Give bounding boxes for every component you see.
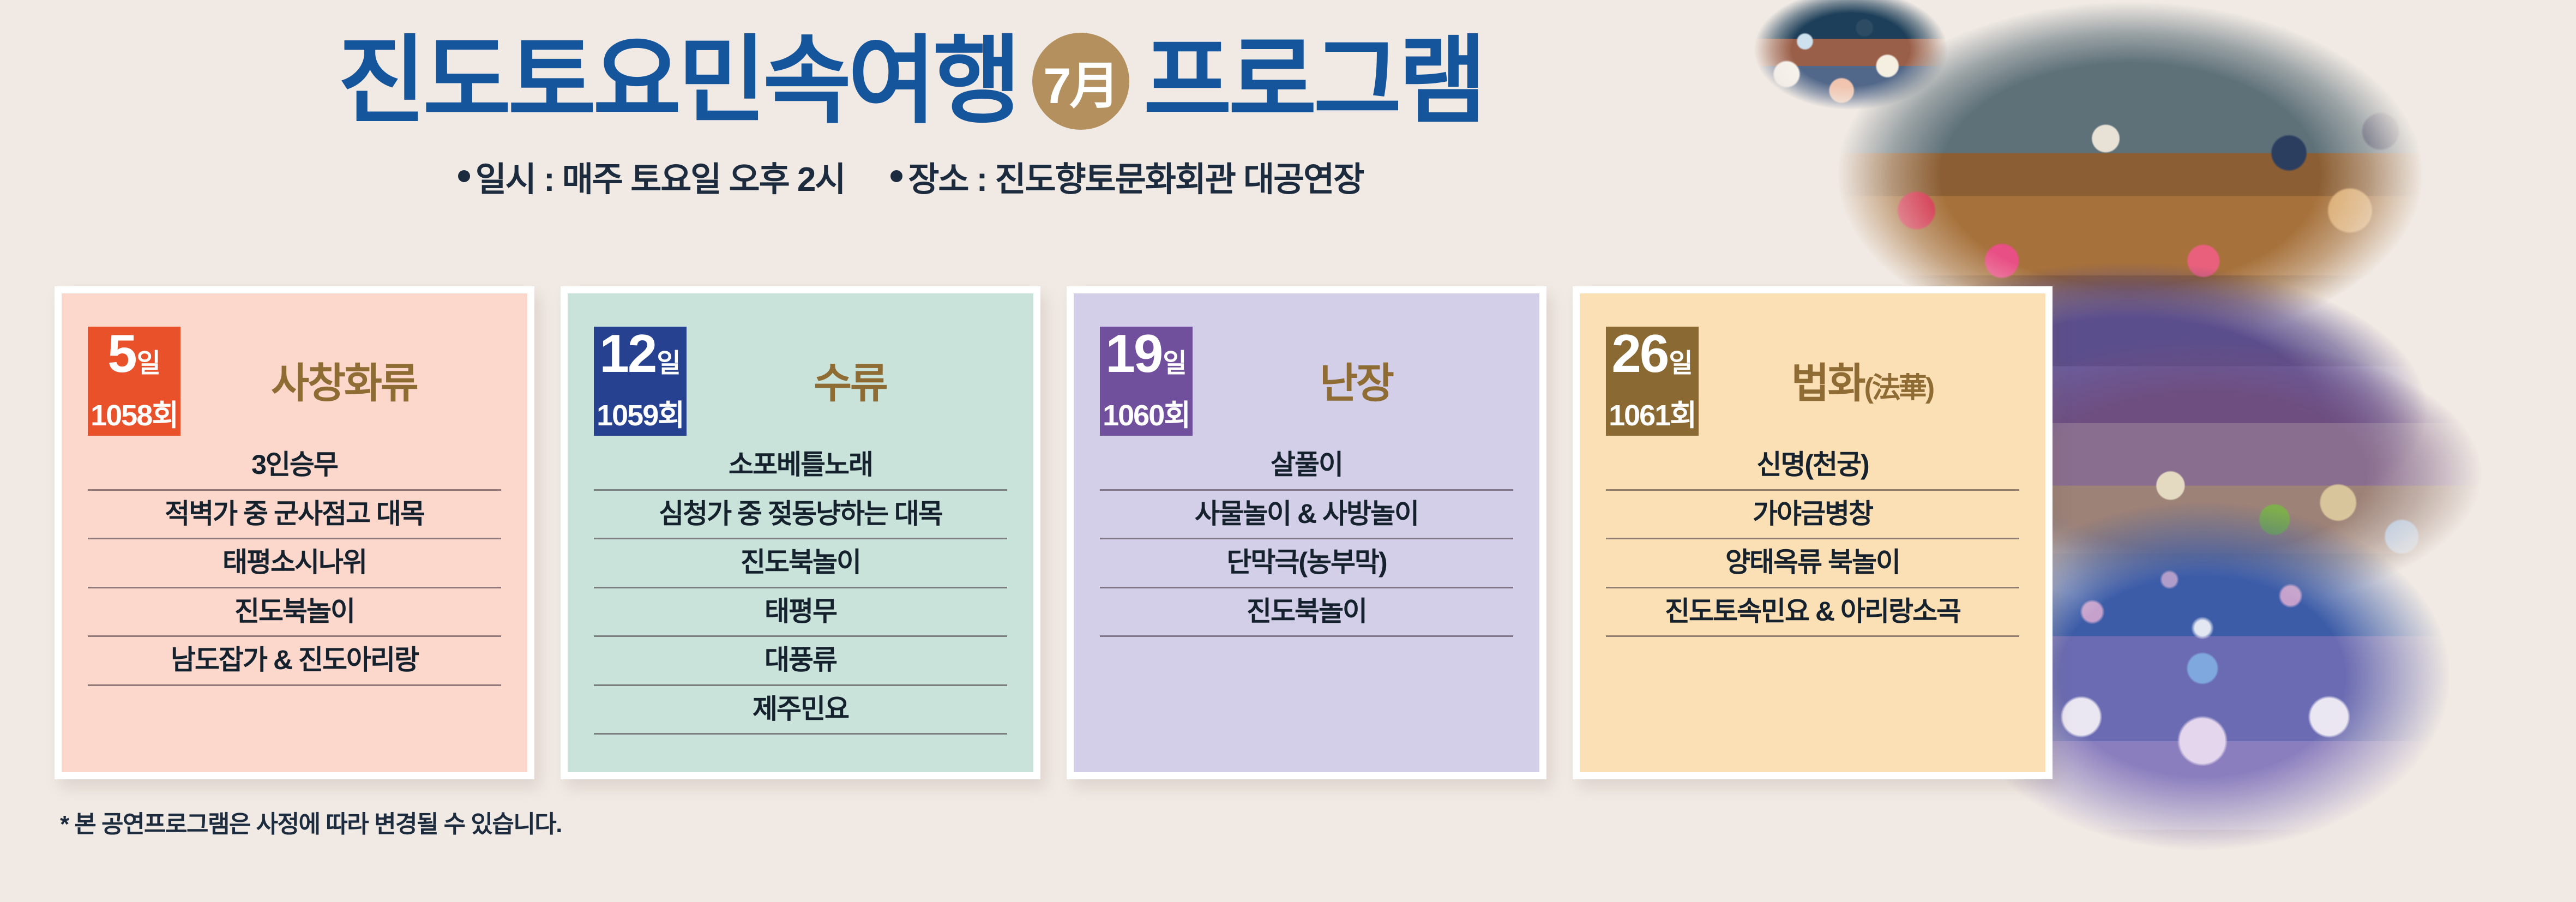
program-item: 단막극(농부막) [1100, 539, 1513, 588]
program-item: 사물놀이 & 사방놀이 [1100, 491, 1513, 540]
program-card-body: 26일1061회법화(法華)신명(천궁)가야금병창양태옥류 북놀이진도토속민요 … [1580, 293, 2045, 772]
title-row: 진도토요민속여행 7月 프로그램 [0, 33, 1821, 130]
program-item: 적벽가 중 군사점고 대목 [88, 491, 501, 540]
program-card-header: 5일1058회사창화류 [88, 324, 501, 438]
program-item: 제주민요 [594, 686, 1007, 735]
program-item: 신명(천궁) [1606, 442, 2019, 491]
date-badge-day-unit: 일 [1163, 351, 1187, 376]
month-badge: 7月 [1032, 33, 1129, 130]
program-item: 진도북놀이 [88, 588, 501, 638]
program-card-title-text: 사창화류 [271, 360, 417, 407]
program-card-title: 수류 [693, 350, 1007, 413]
program-card-title-hanja: (法華) [1864, 372, 1934, 404]
program-card-title: 사창화류 [187, 350, 501, 413]
date-badge-round: 1058회 [91, 391, 178, 434]
program-card-body: 12일1059회수류소포베틀노래심청가 중 젖동냥하는 대목진도북놀이태평무대풍… [568, 293, 1033, 772]
info-venue: 장소 : 진도향토문화회관 대공연장 [890, 152, 1363, 201]
info-venue-label: 장소 : 진도향토문화회관 대공연장 [908, 152, 1363, 201]
date-badge-day-unit: 일 [1669, 351, 1693, 376]
date-badge-round: 1060회 [1103, 391, 1190, 434]
date-badge: 12일1059회 [594, 327, 687, 436]
date-badge: 5일1058회 [88, 327, 180, 436]
date-badge: 19일1060회 [1100, 327, 1193, 436]
bullet-icon [890, 170, 902, 182]
program-item: 가야금병창 [1606, 491, 2019, 540]
subtitle-row: 일시 : 매주 토요일 오후 2시 장소 : 진도향토문화회관 대공연장 [0, 152, 1821, 201]
program-card-title-text: 수류 [814, 360, 887, 407]
program-item: 소포베틀노래 [594, 442, 1007, 491]
program-card-title: 난장 [1199, 350, 1513, 413]
date-badge-day-unit: 일 [137, 351, 161, 376]
program-item: 심청가 중 젖동냥하는 대목 [594, 491, 1007, 540]
program-item: 진도북놀이 [1100, 588, 1513, 638]
page-title-part2: 프로그램 [1143, 33, 1484, 129]
info-datetime: 일시 : 매주 토요일 오후 2시 [458, 152, 845, 201]
poster-header: 진도토요민속여행 7月 프로그램 일시 : 매주 토요일 오후 2시 장소 : … [0, 33, 1821, 201]
date-badge-day: 5일 [107, 328, 161, 379]
program-card[interactable]: 5일1058회사창화류3인승무적벽가 중 군사점고 대목태평소시나위진도북놀이남… [55, 286, 534, 779]
program-card[interactable]: 19일1060회난장살풀이사물놀이 & 사방놀이단막극(농부막)진도북놀이 [1067, 286, 1546, 779]
program-card-header: 26일1061회법화(法華) [1606, 324, 2019, 438]
program-items: 소포베틀노래심청가 중 젖동냥하는 대목진도북놀이태평무대풍류제주민요 [594, 442, 1007, 735]
date-badge-round: 1061회 [1609, 391, 1696, 434]
date-badge-day: 26일 [1611, 328, 1693, 379]
program-items: 신명(천궁)가야금병창양태옥류 북놀이진도토속민요 & 아리랑소곡 [1606, 442, 2019, 637]
program-card[interactable]: 26일1061회법화(法華)신명(천궁)가야금병창양태옥류 북놀이진도토속민요 … [1573, 286, 2053, 779]
program-item: 진도토속민요 & 아리랑소곡 [1606, 588, 2019, 638]
program-item: 살풀이 [1100, 442, 1513, 491]
program-items: 3인승무적벽가 중 군사점고 대목태평소시나위진도북놀이남도잡가 & 진도아리랑 [88, 442, 501, 686]
program-card-title: 법화(法華) [1705, 350, 2019, 413]
program-card-header: 19일1060회난장 [1100, 324, 1513, 438]
info-datetime-label: 일시 : 매주 토요일 오후 2시 [476, 152, 845, 201]
program-card-title-text: 법화 [1791, 360, 1864, 407]
program-card-header: 12일1059회수류 [594, 324, 1007, 438]
date-badge-day-unit: 일 [657, 351, 681, 376]
date-badge-round: 1059회 [597, 391, 684, 434]
program-card-body: 5일1058회사창화류3인승무적벽가 중 군사점고 대목태평소시나위진도북놀이남… [62, 293, 527, 772]
date-badge-day-number: 19 [1105, 328, 1161, 379]
date-badge-day-number: 12 [599, 328, 655, 379]
program-item: 태평소시나위 [88, 539, 501, 588]
poster-root: 진도토요민속여행 7月 프로그램 일시 : 매주 토요일 오후 2시 장소 : … [0, 0, 2576, 902]
program-item: 진도북놀이 [594, 539, 1007, 588]
program-card[interactable]: 12일1059회수류소포베틀노래심청가 중 젖동냥하는 대목진도북놀이태평무대풍… [561, 286, 1040, 779]
page-title-part1: 진도토요민속여행 [338, 33, 1018, 129]
program-card-body: 19일1060회난장살풀이사물놀이 & 사방놀이단막극(농부막)진도북놀이 [1074, 293, 1539, 772]
program-item: 3인승무 [88, 442, 501, 491]
program-item: 태평무 [594, 588, 1007, 638]
program-item: 양태옥류 북놀이 [1606, 539, 2019, 588]
program-card-list: 5일1058회사창화류3인승무적벽가 중 군사점고 대목태평소시나위진도북놀이남… [55, 286, 2072, 779]
date-badge-day-number: 5 [107, 328, 136, 379]
bullet-icon [458, 170, 470, 182]
program-items: 살풀이사물놀이 & 사방놀이단막극(농부막)진도북놀이 [1100, 442, 1513, 637]
program-item: 대풍류 [594, 637, 1007, 686]
footnote: * 본 공연프로그램은 사정에 따라 변경될 수 있습니다. [60, 804, 562, 839]
program-item: 남도잡가 & 진도아리랑 [88, 637, 501, 686]
date-badge-day: 19일 [1105, 328, 1187, 379]
program-card-title-text: 난장 [1320, 360, 1393, 407]
date-badge-day: 12일 [599, 328, 681, 379]
date-badge-day-number: 26 [1611, 328, 1668, 379]
date-badge: 26일1061회 [1606, 327, 1699, 436]
